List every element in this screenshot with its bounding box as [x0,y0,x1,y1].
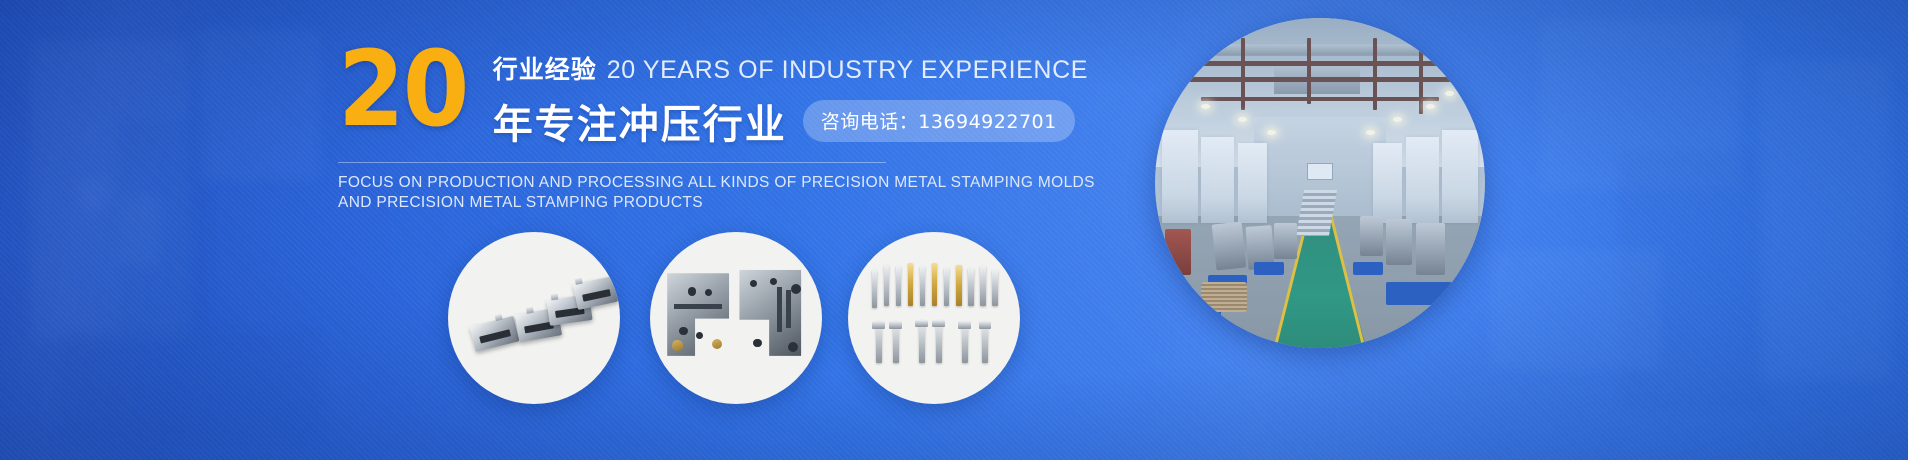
headline-line-2: 年专注冲压行业 咨询电话：13694922701 [493,92,1088,150]
years-number: 20 [338,44,467,136]
connector-shells-photo [448,232,620,404]
metal-terminal-pins-photo [848,232,1020,404]
headline-cn-small: 行业经验 [493,50,597,86]
subcopy-line-2: AND PRECISION METAL STAMPING PRODUCTS [338,193,1038,213]
subcopy-line-1: FOCUS ON PRODUCTION AND PROCESSING ALL K… [338,173,1038,193]
phone-pill[interactable]: 咨询电话：13694922701 [803,100,1075,142]
headline-text-group: 行业经验 20 YEARS OF INDUSTRY EXPERIENCE 年专注… [493,40,1088,150]
product-circle-connectors [448,232,620,404]
product-circle-terminals [848,232,1020,404]
headline-line-1: 行业经验 20 YEARS OF INDUSTRY EXPERIENCE [493,50,1088,86]
product-circle-molds [650,232,822,404]
headline-en-small: 20 YEARS OF INDUSTRY EXPERIENCE [607,56,1088,85]
factory-photo-circle [1155,18,1485,348]
factory-blue-tint [1155,18,1485,348]
headline-cn-big: 年专注冲压行业 [493,92,787,150]
promo-banner: 20 行业经验 20 YEARS OF INDUSTRY EXPERIENCE … [0,0,1908,460]
stamping-mold-dies-photo [650,232,822,404]
divider-rule [338,162,886,163]
headline-block: 20 行业经验 20 YEARS OF INDUSTRY EXPERIENCE … [338,40,1038,214]
headline-row: 20 行业经验 20 YEARS OF INDUSTRY EXPERIENCE … [338,40,1038,150]
